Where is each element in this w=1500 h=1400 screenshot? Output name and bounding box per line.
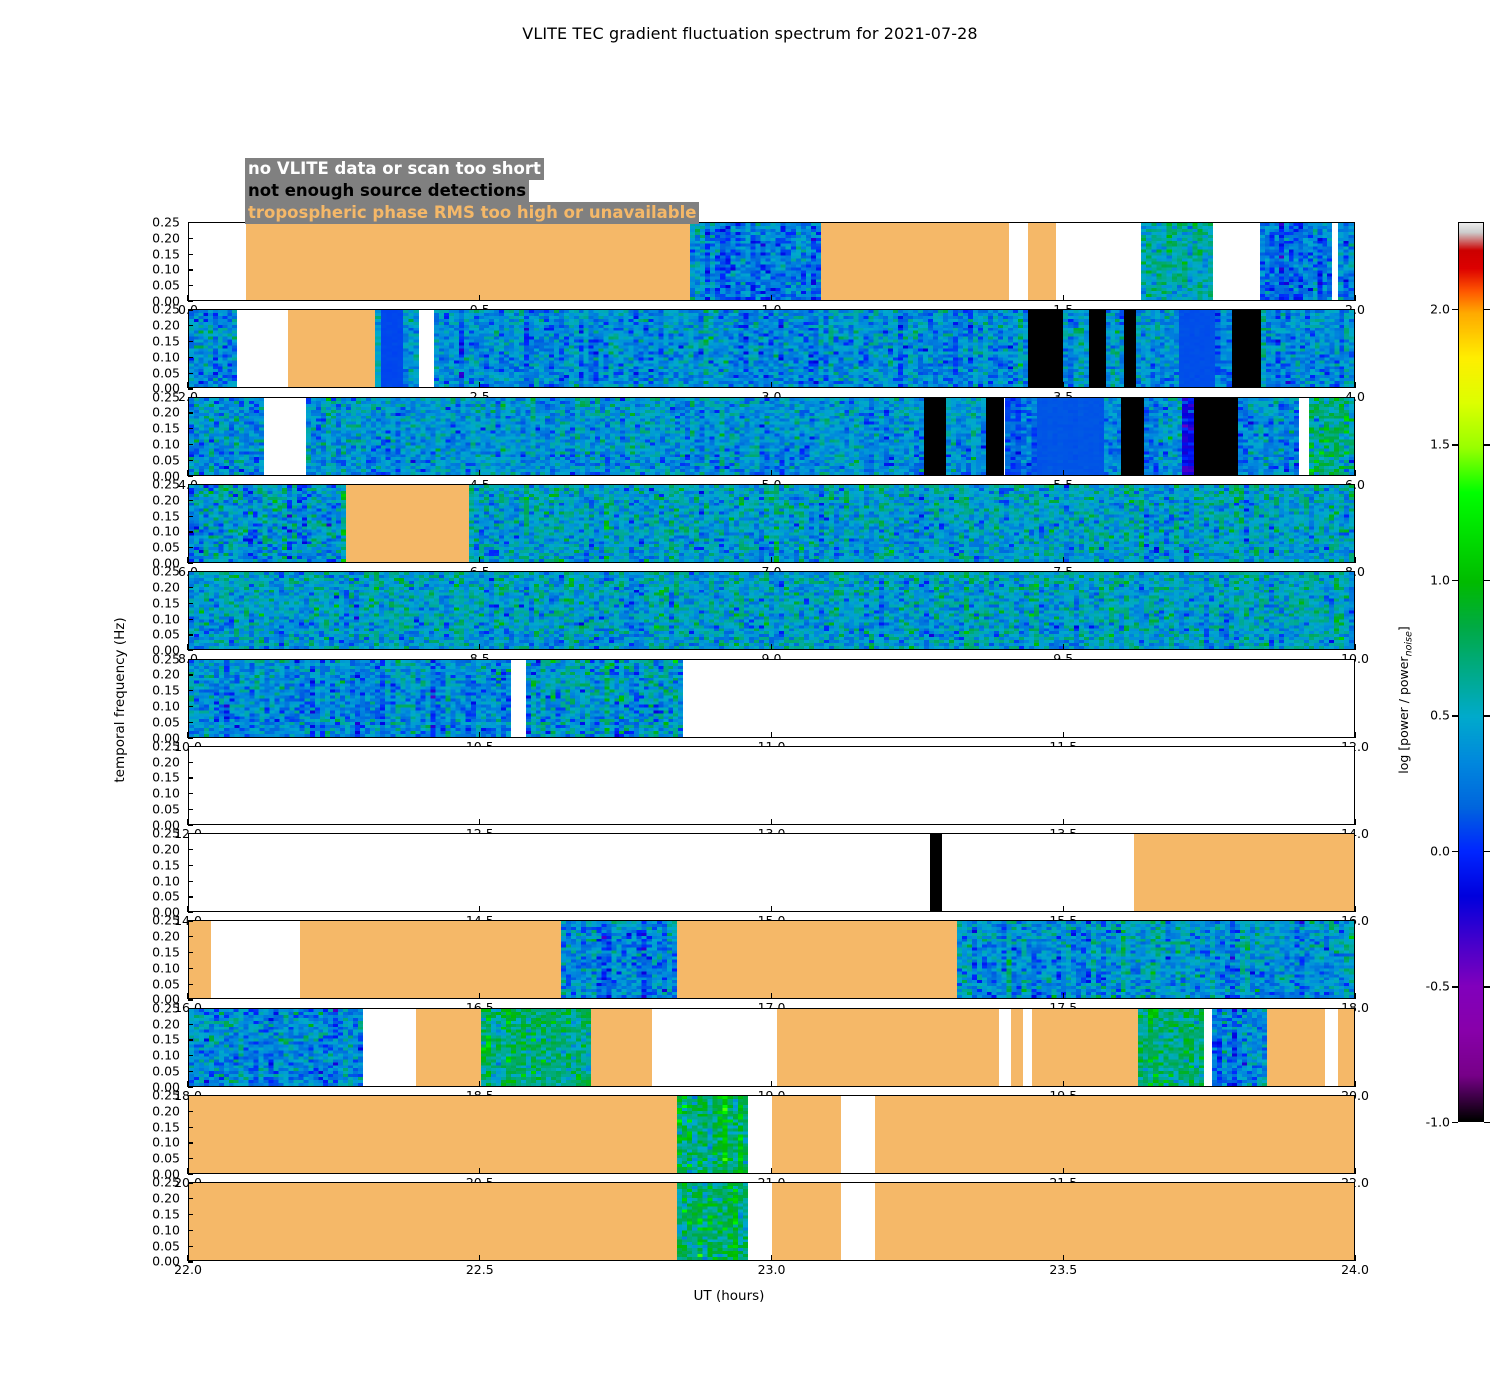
segment-data [677,1096,748,1173]
x-tick-mark [1063,470,1064,476]
x-tick-mark [1354,470,1355,476]
colorbar-tick-mark [1452,851,1458,852]
y-tick-label: 0.05 [120,627,180,642]
y-tick-label: 0.10 [120,437,180,452]
y-tick-label: 0.10 [120,873,180,888]
x-tick-label: 22.5 [466,1262,494,1277]
segment-no_data [1023,1009,1032,1086]
y-tick-label: 0.25 [120,476,180,491]
y-tick-label: 0.25 [120,651,180,666]
heatmap-row-10[interactable] [188,1095,1355,1174]
x-tick-mark [479,1081,480,1087]
y-tick-label: 0.15 [120,945,180,960]
y-tick-label: 0.10 [120,1048,180,1063]
y-tick-mark [188,619,193,620]
y-tick-mark [188,920,193,921]
x-tick-mark [1063,819,1064,825]
x-tick-mark [771,1255,772,1261]
x-tick-mark [1063,993,1064,999]
y-tick-label: 0.25 [120,389,180,404]
spectrum-canvas [306,398,925,475]
colorbar-tick-label: 1.5 [1390,437,1450,452]
spectrum-canvas [189,485,346,562]
colorbar-tick-mark [1484,1122,1490,1123]
segment-data [1261,310,1354,387]
x-tick-mark [187,470,188,476]
segment-tropo_rms_high [416,1009,481,1086]
y-tick-label: 0.25 [120,826,180,841]
segment-data [189,398,264,475]
segment-data [1215,310,1231,387]
segment-data [946,398,986,475]
x-tick-mark [771,470,772,476]
y-tick-label: 0.00 [120,1254,180,1269]
segment-no_data [264,398,306,475]
y-tick-mark [188,1127,193,1128]
y-tick-mark [188,1142,193,1143]
heatmap-row-plotarea [189,1096,1354,1173]
heatmap-row-plotarea [189,834,1354,911]
heatmap-row-8[interactable] [188,920,1355,999]
colorbar-tick-label: 0.0 [1390,843,1450,858]
y-tick-mark [188,849,193,850]
x-tick-mark [187,644,188,650]
colorbar-tick-label: 1.0 [1390,572,1450,587]
flag-legend: no VLITE data or scan too short not enou… [245,158,699,224]
x-tick-mark [1354,382,1355,388]
y-tick-label: 0.10 [120,611,180,626]
x-tick-mark [1354,557,1355,563]
y-tick-mark [188,1111,193,1112]
spectrum-canvas [1005,398,1037,475]
segment-tropo_rms_high [772,1183,842,1260]
colorbar-tick-mark [1452,580,1458,581]
x-tick-mark [1063,1081,1064,1087]
segment-data [690,223,821,300]
segment-tropo_rms_high [1011,1009,1023,1086]
y-tick-mark [188,1055,193,1056]
y-tick-label: 0.05 [120,452,180,467]
y-tick-mark [188,881,193,882]
segment-data [1260,223,1333,300]
x-tick-mark [479,993,480,999]
heatmap-row-plotarea [189,1009,1354,1086]
y-tick-mark [188,444,193,445]
y-tick-mark [188,1182,193,1183]
segment-not_enough_detections [1121,398,1144,475]
y-tick-label: 0.10 [120,1135,180,1150]
colorbar-tick-mark [1484,986,1490,987]
segment-not_enough_detections [1089,310,1106,387]
y-tick-mark [188,1158,193,1159]
segment-data [957,921,1354,998]
spectrum-canvas [1179,310,1215,387]
spectrum-canvas [526,660,683,737]
x-tick-mark [479,295,480,301]
segment-data [469,485,1354,562]
segment-not_enough_detections [930,834,942,911]
x-tick-mark [1354,732,1355,738]
x-tick-mark [187,732,188,738]
colorbar-canvas [1459,223,1483,1121]
y-tick-mark [188,587,193,588]
segment-not_enough_detections [986,398,1005,475]
heatmap-row-0[interactable] [188,222,1355,301]
y-tick-mark [188,309,193,310]
segment-no_data [1009,223,1028,300]
segment-no_data [1213,223,1260,300]
y-tick-label: 0.20 [120,754,180,769]
colorbar-tick-label: -0.5 [1390,979,1450,994]
y-tick-mark [188,690,193,691]
segment-flat [381,310,403,387]
segment-data [189,572,1354,649]
legend-item-no-data: no VLITE data or scan too short [245,158,544,180]
y-tick-mark [188,777,193,778]
spectrum-canvas [1037,398,1104,475]
x-tick-mark [187,382,188,388]
segment-tropo_rms_high [1267,1009,1325,1086]
spectrum-canvas [1260,223,1333,300]
x-tick-mark [479,644,480,650]
y-tick-mark [188,984,193,985]
segment-no_data [999,1009,1012,1086]
segment-data [1136,310,1180,387]
y-tick-mark [188,269,193,270]
segment-no_data [1204,1009,1212,1086]
colorbar-tick-label: 2.0 [1390,301,1450,316]
x-axis-label: UT (hours) [0,1288,1500,1304]
y-tick-mark [188,325,193,326]
segment-tropo_rms_high [1028,223,1056,300]
segment-data [677,1183,748,1260]
segment-data [1338,223,1354,300]
heatmap-row-plotarea [189,572,1354,649]
y-tick-label: 0.15 [120,421,180,436]
heatmap-row-9[interactable] [188,1008,1355,1087]
segment-data [1005,398,1037,475]
heatmap-row-7[interactable] [188,833,1355,912]
x-tick-mark [187,906,188,912]
y-tick-mark [188,531,193,532]
x-tick-label: 23.5 [1049,1262,1077,1277]
spectrum-canvas [403,310,419,387]
x-tick-mark [771,1081,772,1087]
y-tick-label: 0.05 [120,1151,180,1166]
y-tick-label: 0.20 [120,667,180,682]
y-tick-mark [188,397,193,398]
y-tick-mark [188,373,193,374]
y-tick-mark [188,428,193,429]
y-tick-mark [188,1024,193,1025]
spectrum-canvas [1338,223,1354,300]
y-tick-mark [188,793,193,794]
segment-tropo_rms_high [875,1183,1354,1260]
spectrum-canvas [189,310,237,387]
spectrum-canvas [957,921,1354,998]
x-tick-label: 22.0 [174,1262,202,1277]
y-tick-mark [188,896,193,897]
y-tick-label: 0.25 [120,215,180,230]
y-tick-label: 0.15 [120,1206,180,1221]
spectrum-canvas [481,1009,591,1086]
spectrum-canvas [1141,223,1213,300]
segment-data [1063,310,1089,387]
y-tick-mark [188,500,193,501]
legend-item-not-enough-detections: not enough source detections [245,180,529,202]
segment-tropo_rms_high [1338,1009,1354,1086]
y-tick-label: 0.10 [120,786,180,801]
y-tick-label: 0.05 [120,976,180,991]
heatmap-row-5[interactable] [188,659,1355,738]
y-tick-label: 0.05 [120,540,180,555]
x-tick-mark [1063,732,1064,738]
colorbar-tick-mark [1452,986,1458,987]
y-tick-label: 0.05 [120,714,180,729]
segment-tropo_rms_high [677,921,957,998]
segment-flat [1179,310,1215,387]
heatmap-row-stack: 0.000.050.100.150.200.250.00.51.01.52.00… [188,222,1355,1262]
y-tick-mark [188,762,193,763]
spectrum-canvas [381,310,403,387]
x-tick-mark [1063,644,1064,650]
segment-data [561,921,678,998]
y-tick-mark [188,603,193,604]
spectrum-canvas [677,1096,748,1173]
x-tick-mark [479,557,480,563]
spectrum-canvas [1212,1009,1267,1086]
y-tick-label: 0.05 [120,365,180,380]
y-tick-label: 0.10 [120,524,180,539]
y-tick-label: 0.25 [120,302,180,317]
segment-data [1182,398,1194,475]
heatmap-row-11[interactable] [188,1182,1355,1261]
y-tick-label: 0.15 [120,1119,180,1134]
y-tick-mark [188,341,193,342]
segment-data [434,310,1028,387]
x-tick-mark [479,382,480,388]
segment-tropo_rms_high [772,1096,842,1173]
segment-no_data [748,1096,771,1173]
heatmap-row-plotarea [189,1183,1354,1260]
y-tick-mark [188,547,193,548]
segment-no_data [1325,1009,1338,1086]
x-tick-mark [1354,906,1355,912]
y-tick-mark [188,833,193,834]
y-tick-label: 0.25 [120,913,180,928]
y-tick-mark [188,634,193,635]
segment-not_enough_detections [1124,310,1136,387]
segment-data [481,1009,591,1086]
x-tick-mark [187,1081,188,1087]
spectrum-canvas [469,485,1354,562]
y-tick-mark [188,412,193,413]
spectrum-canvas [1144,398,1182,475]
y-tick-mark [188,722,193,723]
x-tick-mark [187,819,188,825]
colorbar-tick-mark [1484,309,1490,310]
y-tick-mark [188,285,193,286]
y-tick-mark [188,222,193,223]
colorbar-tick-label: 0.5 [1390,708,1450,723]
x-tick-mark [479,1168,480,1174]
segment-data [189,310,237,387]
y-tick-label: 0.15 [120,595,180,610]
segment-data [1144,398,1182,475]
segment-no_data [363,1009,417,1086]
segment-no_data [237,310,288,387]
x-tick-mark [771,382,772,388]
colorbar: -1.0-0.50.00.51.01.52.0 [1458,222,1484,1122]
x-tick-mark [1354,295,1355,301]
y-tick-label: 0.20 [120,405,180,420]
spectrum-canvas [1136,310,1180,387]
segment-flat [1037,398,1104,475]
spectrum-canvas [434,310,1028,387]
y-tick-label: 0.15 [120,508,180,523]
segment-not_enough_detections [1232,310,1261,387]
spectrum-canvas [561,921,678,998]
segment-not_enough_detections [924,398,946,475]
spectrum-canvas [1104,398,1121,475]
y-tick-label: 0.20 [120,492,180,507]
segment-tropo_rms_high [346,485,468,562]
segment-data [1104,398,1121,475]
y-tick-mark [188,706,193,707]
spectrum-canvas [677,1183,748,1260]
heatmap-row-6[interactable] [188,746,1355,825]
x-tick-mark [1354,819,1355,825]
segment-data [1106,310,1123,387]
y-tick-mark [188,1230,193,1231]
y-tick-mark [188,357,193,358]
x-tick-mark [771,1168,772,1174]
segment-data [1138,1009,1203,1086]
spectrum-canvas [189,660,511,737]
heatmap-row-1[interactable] [188,309,1355,388]
segment-no_data [683,660,1354,737]
x-tick-label: 24.0 [1341,1262,1369,1277]
segment-data [189,660,511,737]
x-tick-label: 23.0 [758,1262,786,1277]
y-tick-label: 0.20 [120,929,180,944]
segment-tropo_rms_high [875,1096,1354,1173]
segment-no_data [841,1096,875,1173]
segment-tropo_rms_high [821,223,1009,300]
heatmap-row-3[interactable] [188,484,1355,563]
spectrum-canvas [189,398,264,475]
x-tick-mark [1063,295,1064,301]
y-tick-label: 0.25 [120,1088,180,1103]
x-tick-mark [771,906,772,912]
y-tick-mark [188,809,193,810]
y-tick-label: 0.25 [120,738,180,753]
colorbar-tick-mark [1452,1122,1458,1123]
y-tick-mark [188,968,193,969]
segment-tropo_rms_high [288,310,375,387]
segment-data [189,1009,363,1086]
y-tick-mark [188,865,193,866]
legend-item-tropo-rms: tropospheric phase RMS too high or unava… [245,202,699,224]
segment-data [1309,398,1354,475]
x-tick-mark [771,993,772,999]
heatmap-row-4[interactable] [188,571,1355,650]
segment-tropo_rms_high [1032,1009,1138,1086]
segment-data [526,660,683,737]
y-tick-label: 0.20 [120,580,180,595]
heatmap-row-plotarea [189,485,1354,562]
y-tick-mark [188,1039,193,1040]
y-tick-label: 0.15 [120,333,180,348]
y-tick-label: 0.15 [120,246,180,261]
x-tick-mark [1063,557,1064,563]
segment-no_data [189,747,1354,824]
x-tick-mark [771,819,772,825]
spectrum-canvas [1309,398,1354,475]
y-tick-mark [188,659,193,660]
y-tick-mark [188,484,193,485]
segment-not_enough_detections [1028,310,1063,387]
y-tick-mark [188,1198,193,1199]
segment-no_data [1299,398,1309,475]
x-tick-mark [187,295,188,301]
y-tick-mark [188,1246,193,1247]
spectrum-canvas [1106,310,1123,387]
y-tick-label: 0.20 [120,1103,180,1118]
y-tick-label: 0.20 [120,230,180,245]
y-tick-label: 0.25 [120,1175,180,1190]
colorbar-tick-mark [1484,715,1490,716]
segment-data [1141,223,1213,300]
y-tick-label: 0.10 [120,960,180,975]
segment-tropo_rms_high [189,921,211,998]
segment-no_data [211,921,300,998]
colorbar-tick-mark [1484,444,1490,445]
heatmap-row-plotarea [189,398,1354,475]
segment-tropo_rms_high [1134,834,1354,911]
y-tick-label: 0.05 [120,1238,180,1253]
y-tick-mark [188,936,193,937]
x-tick-mark [479,1255,480,1261]
y-tick-mark [188,460,193,461]
segment-no_data [942,834,1134,911]
heatmap-row-2[interactable] [188,397,1355,476]
segment-no_data [511,660,526,737]
y-tick-label: 0.10 [120,1222,180,1237]
y-tick-mark [188,238,193,239]
y-tick-label: 0.10 [120,262,180,277]
segment-no_data [841,1183,875,1260]
x-tick-mark [1354,1255,1355,1261]
heatmap-row-plotarea [189,223,1354,300]
segment-no_data [652,1009,777,1086]
segment-no_data [1056,223,1142,300]
y-tick-mark [188,516,193,517]
segment-no_data [419,310,434,387]
x-tick-mark [479,819,480,825]
y-tick-label: 0.20 [120,318,180,333]
y-tick-label: 0.15 [120,683,180,698]
y-tick-label: 0.20 [120,1016,180,1031]
spectrum-canvas [189,572,1354,649]
x-tick-mark [1063,1255,1064,1261]
x-tick-mark [1063,906,1064,912]
segment-no_data [189,223,246,300]
y-tick-label: 0.05 [120,278,180,293]
spectrum-canvas [1063,310,1089,387]
y-tick-label: 0.25 [120,564,180,579]
y-tick-mark [188,674,193,675]
